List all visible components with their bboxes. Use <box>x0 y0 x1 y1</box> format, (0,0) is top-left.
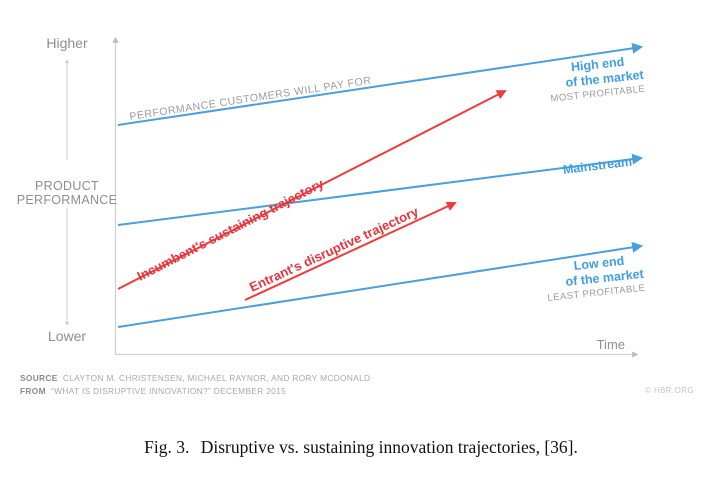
series-line-performance-customers-will-pay-for <box>118 47 641 125</box>
annotation-high-end-sub: MOST PROFITABLE <box>550 84 646 105</box>
annotation-performance-band: PERFORMANCE CUSTOMERS WILL PAY FOR <box>129 75 373 123</box>
source-key: SOURCE <box>20 373 58 383</box>
innovation-trajectory-chart: Higher PRODUCT PERFORMANCE Lower Time PE… <box>0 0 722 486</box>
series-line-entrant-disruptive-trajectory <box>245 203 455 300</box>
y-axis-low-label: Lower <box>48 328 86 344</box>
annotation-mainstream: Mainstream <box>562 155 633 177</box>
y-axis-high-label: Higher <box>46 35 88 51</box>
series-line-low-end <box>118 246 641 327</box>
annotation-entrant-trajectory: Entrant's disruptive trajectory <box>247 203 421 294</box>
from-value: “WHAT IS DISRUPTIVE INNOVATION?” DECEMBE… <box>51 386 286 396</box>
x-axis-title: Time <box>597 337 625 352</box>
y-axis-title-line1: PRODUCT <box>35 179 99 193</box>
figure-caption: Fig. 3. Disruptive vs. sustaining innova… <box>0 437 722 458</box>
y-axis-title-line2: PERFORMANCE <box>17 193 118 207</box>
from-key: FROM <box>20 386 46 396</box>
annotation-low-end-sub: LEAST PROFITABLE <box>547 283 646 304</box>
from-line: FROM “WHAT IS DISRUPTIVE INNOVATION?” DE… <box>20 385 370 398</box>
hbr-credit: © HBR.ORG <box>645 386 694 395</box>
figure-caption-text: Disruptive vs. sustaining innovation tra… <box>201 437 578 457</box>
source-block: SOURCE CLAYTON M. CHRISTENSEN, MICHAEL R… <box>20 372 370 398</box>
figure-container: Higher PRODUCT PERFORMANCE Lower Time PE… <box>0 0 722 486</box>
source-line: SOURCE CLAYTON M. CHRISTENSEN, MICHAEL R… <box>20 372 370 385</box>
source-value: CLAYTON M. CHRISTENSEN, MICHAEL RAYNOR, … <box>63 373 370 383</box>
figure-caption-number: Fig. 3. <box>144 437 189 457</box>
